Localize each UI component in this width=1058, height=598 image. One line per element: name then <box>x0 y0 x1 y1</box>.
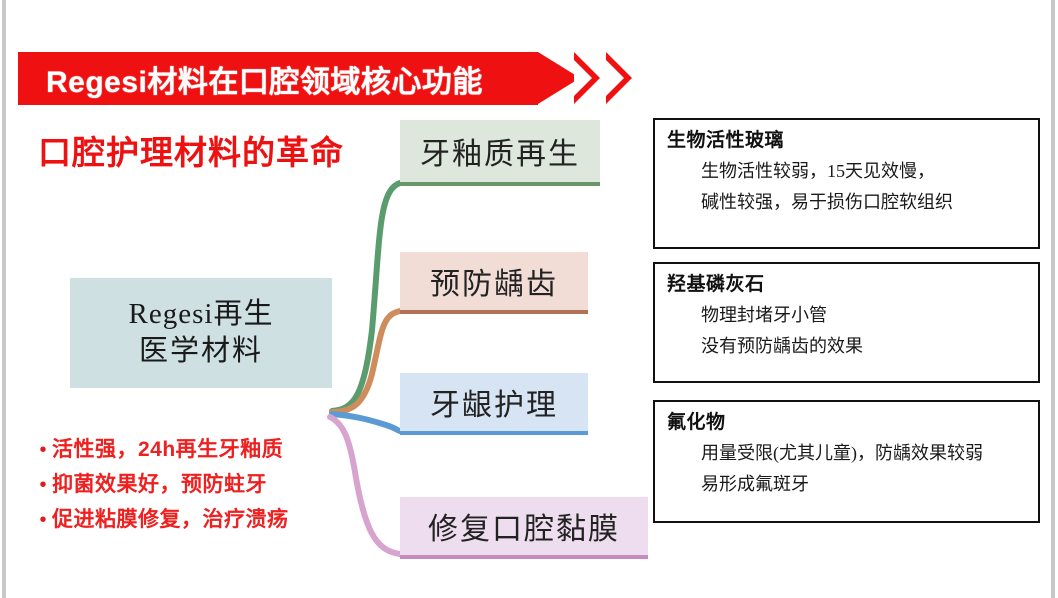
branch-label: 修复口腔黏膜 <box>428 504 620 548</box>
info-box-line: 生物活性较弱，15天见效慢， <box>667 156 1028 187</box>
page-left-rail <box>2 0 6 598</box>
info-box-fluoride: 氟化物 用量受限(尤其儿童)，防龋效果较弱 易形成氟斑牙 <box>653 400 1040 523</box>
center-node-line1: Regesi再生 <box>129 296 274 333</box>
center-node-line2: 医学材料 <box>139 333 263 370</box>
info-box-title: 生物活性玻璃 <box>667 128 1028 154</box>
bullet-dot-icon: • <box>34 472 52 498</box>
info-box-line: 物理封堵牙小管 <box>667 300 1028 331</box>
branch-node-gum-care[interactable]: 牙龈护理 <box>400 373 588 435</box>
info-box-hydroxyapatite: 羟基磷灰石 物理封堵牙小管 没有预防龋齿的效果 <box>653 262 1040 383</box>
chevron-right-icon <box>574 52 600 104</box>
list-item: • 抑菌效果好，预防蛀牙 <box>34 472 384 498</box>
list-item-label: 抑菌效果好，预防蛀牙 <box>52 472 267 498</box>
branch-node-caries-prevention[interactable]: 预防龋齿 <box>400 252 588 314</box>
info-box-bioactive-glass: 生物活性玻璃 生物活性较弱，15天见效慢， 碱性较强，易于损伤口腔软组织 <box>653 118 1040 249</box>
info-box-line: 碱性较强，易于损伤口腔软组织 <box>667 187 1028 218</box>
branch-node-enamel-regeneration[interactable]: 牙釉质再生 <box>400 120 600 186</box>
bullet-dot-icon: • <box>34 437 52 463</box>
subtitle-text: 口腔护理材料的革命 <box>38 126 344 174</box>
bullet-dot-icon: • <box>34 507 52 533</box>
list-item-label: 活性强，24h再生牙釉质 <box>52 437 283 463</box>
info-box-line: 用量受限(尤其儿童)，防龋效果较弱 <box>667 438 1028 469</box>
info-box-line: 易形成氟斑牙 <box>667 469 1028 500</box>
info-box-title: 羟基磷灰石 <box>667 272 1028 298</box>
center-node[interactable]: Regesi再生 医学材料 <box>70 278 332 388</box>
branch-label: 牙釉质再生 <box>420 129 580 173</box>
branch-label: 牙龈护理 <box>430 380 558 424</box>
list-item: • 促进粘膜修复，治疗溃疡 <box>34 507 384 533</box>
list-item: • 活性强，24h再生牙釉质 <box>34 437 384 463</box>
branch-node-mucosa-repair[interactable]: 修复口腔黏膜 <box>400 497 648 559</box>
list-item-label: 促进粘膜修复，治疗溃疡 <box>52 507 289 533</box>
title-banner: Regesi材料在口腔领域核心功能 <box>18 52 638 105</box>
page-right-rail <box>1051 0 1055 598</box>
slide-canvas: Regesi材料在口腔领域核心功能 口腔护理材料的革命 Regesi再生 医学材… <box>0 0 1058 598</box>
info-box-line: 没有预防龋齿的效果 <box>667 331 1028 362</box>
chevron-right-icon <box>606 52 632 104</box>
benefit-bullet-list: • 活性强，24h再生牙釉质 • 抑菌效果好，预防蛀牙 • 促进粘膜修复，治疗溃… <box>34 437 384 542</box>
info-box-title: 氟化物 <box>667 410 1028 436</box>
banner-title-text: Regesi材料在口腔领域核心功能 <box>46 52 483 105</box>
branch-label: 预防龋齿 <box>430 259 558 303</box>
